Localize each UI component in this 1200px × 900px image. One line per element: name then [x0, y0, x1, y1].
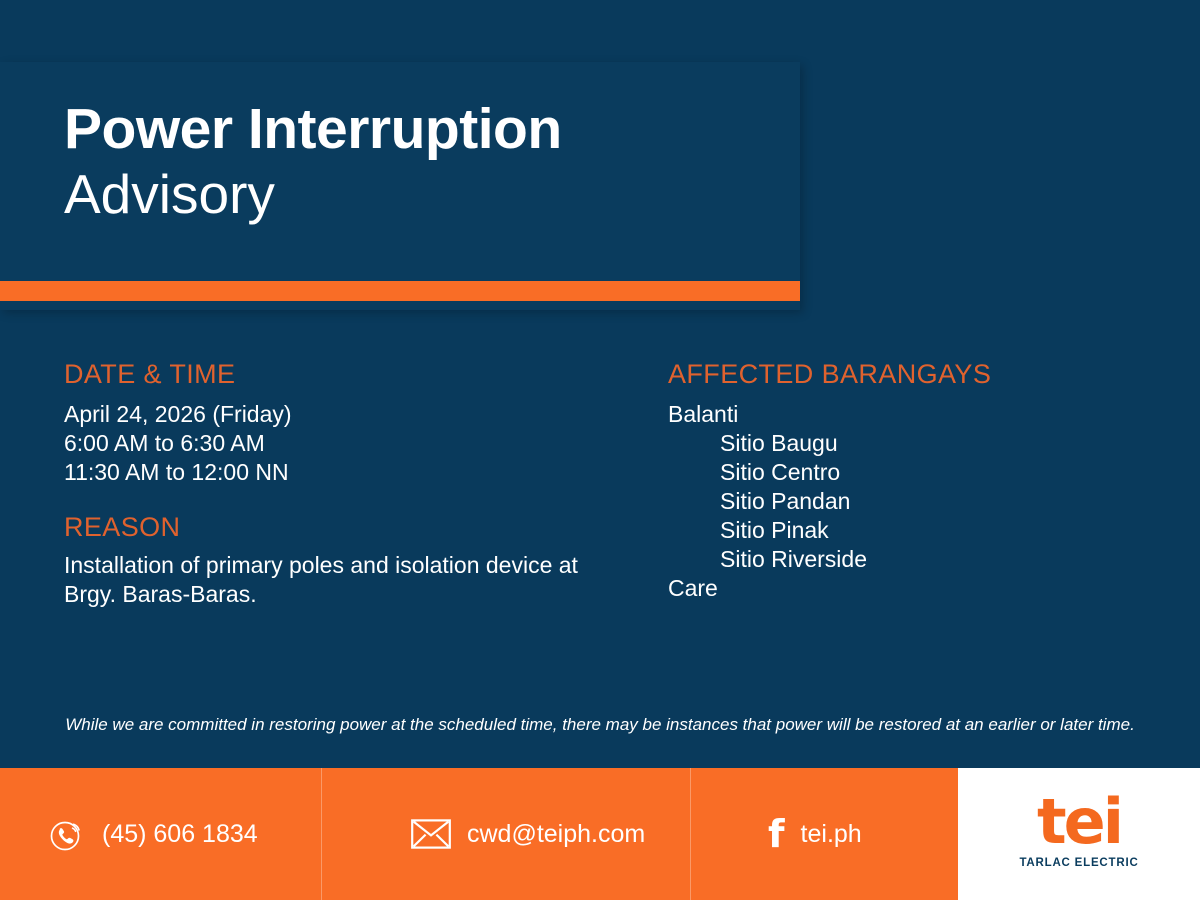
list-item: Sitio Pinak [668, 516, 1168, 545]
date-time-heading: DATE & TIME [64, 360, 644, 390]
page-subtitle: Advisory [64, 162, 562, 227]
orange-accent-bar [0, 281, 800, 301]
reason-section: REASON Installation of primary poles and… [64, 513, 644, 610]
header-panel: Power Interruption Advisory [0, 62, 800, 310]
page-title: Power Interruption [64, 98, 562, 162]
list-item: Care [668, 574, 1168, 603]
facebook-handle: tei.ph [801, 820, 862, 849]
logo-subtitle: TARLAC ELECTRIC [1019, 857, 1138, 869]
phone-icon [48, 815, 86, 853]
email-address: cwd@teiph.com [467, 820, 645, 849]
list-item: Sitio Riverside [668, 545, 1168, 574]
envelope-icon [411, 818, 451, 850]
date-line: April 24, 2026 (Friday) [64, 400, 644, 429]
contact-facebook[interactable]: f tei.ph [690, 768, 958, 900]
disclaimer-text: While we are committed in restoring powe… [60, 712, 1140, 737]
facebook-glyph: f [768, 815, 785, 853]
details-column: DATE & TIME April 24, 2026 (Friday) 6:00… [64, 360, 644, 609]
list-item: Sitio Pandan [668, 487, 1168, 516]
affected-barangays-column: AFFECTED BARANGAYS Balanti Sitio Baugu S… [668, 360, 1168, 603]
footer-contact-bar: (45) 606 1834 cwd@teiph.com f tei.ph [0, 768, 958, 900]
facebook-icon: f [768, 815, 785, 853]
affected-barangays-heading: AFFECTED BARANGAYS [668, 360, 1168, 390]
contact-email[interactable]: cwd@teiph.com [321, 768, 690, 900]
footer: (45) 606 1834 cwd@teiph.com f tei.ph tei… [0, 768, 1200, 900]
list-item: Sitio Baugu [668, 429, 1168, 458]
reason-text: Installation of primary poles and isolat… [64, 551, 604, 609]
time-line-2: 11:30 AM to 12:00 NN [64, 458, 644, 487]
contact-phone[interactable]: (45) 606 1834 [0, 768, 321, 900]
reason-heading: REASON [64, 513, 644, 543]
list-item: Balanti [668, 400, 1168, 429]
company-logo: tei TARLAC ELECTRIC [958, 768, 1200, 900]
date-time-section: DATE & TIME April 24, 2026 (Friday) 6:00… [64, 360, 644, 487]
list-item: Sitio Centro [668, 458, 1168, 487]
phone-number: (45) 606 1834 [102, 820, 258, 849]
header-title-group: Power Interruption Advisory [64, 98, 562, 227]
logo-wordmark: tei [1037, 793, 1121, 852]
time-line-1: 6:00 AM to 6:30 AM [64, 429, 644, 458]
barangay-list: Balanti Sitio Baugu Sitio Centro Sitio P… [668, 400, 1168, 603]
